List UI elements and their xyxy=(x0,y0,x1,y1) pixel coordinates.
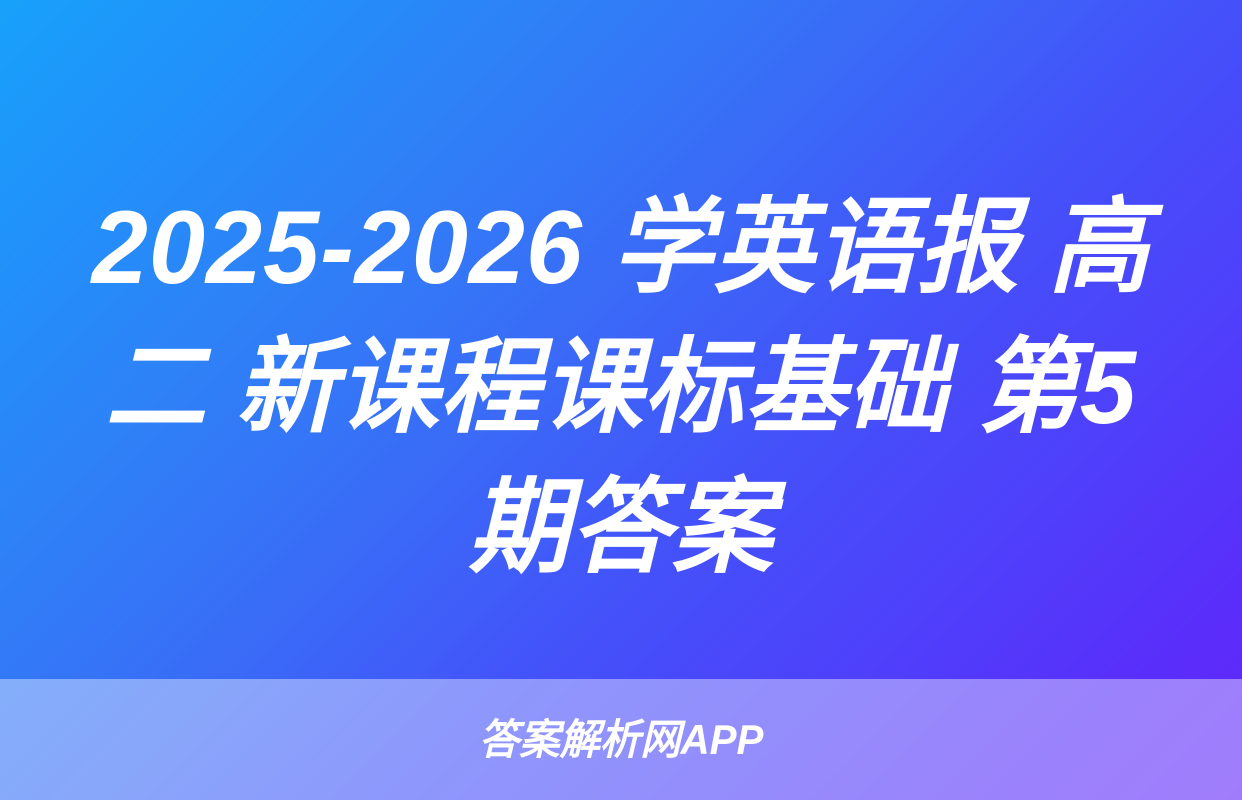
watermark-band: 答案解析网APP xyxy=(0,679,1242,800)
page-title: 2025-2026 学英语报 高 二 新课程课标基础 第5 期答案 xyxy=(0,178,1242,598)
title-line-2: 二 新课程课标基础 第5 xyxy=(65,318,1177,458)
title-line-1: 2025-2026 学英语报 高 xyxy=(65,178,1177,318)
promo-card: 2025-2026 学英语报 高 二 新课程课标基础 第5 期答案 答案解析网A… xyxy=(0,0,1242,800)
app-brand-label: 答案解析网APP xyxy=(479,719,764,761)
title-line-3: 期答案 xyxy=(65,458,1177,598)
